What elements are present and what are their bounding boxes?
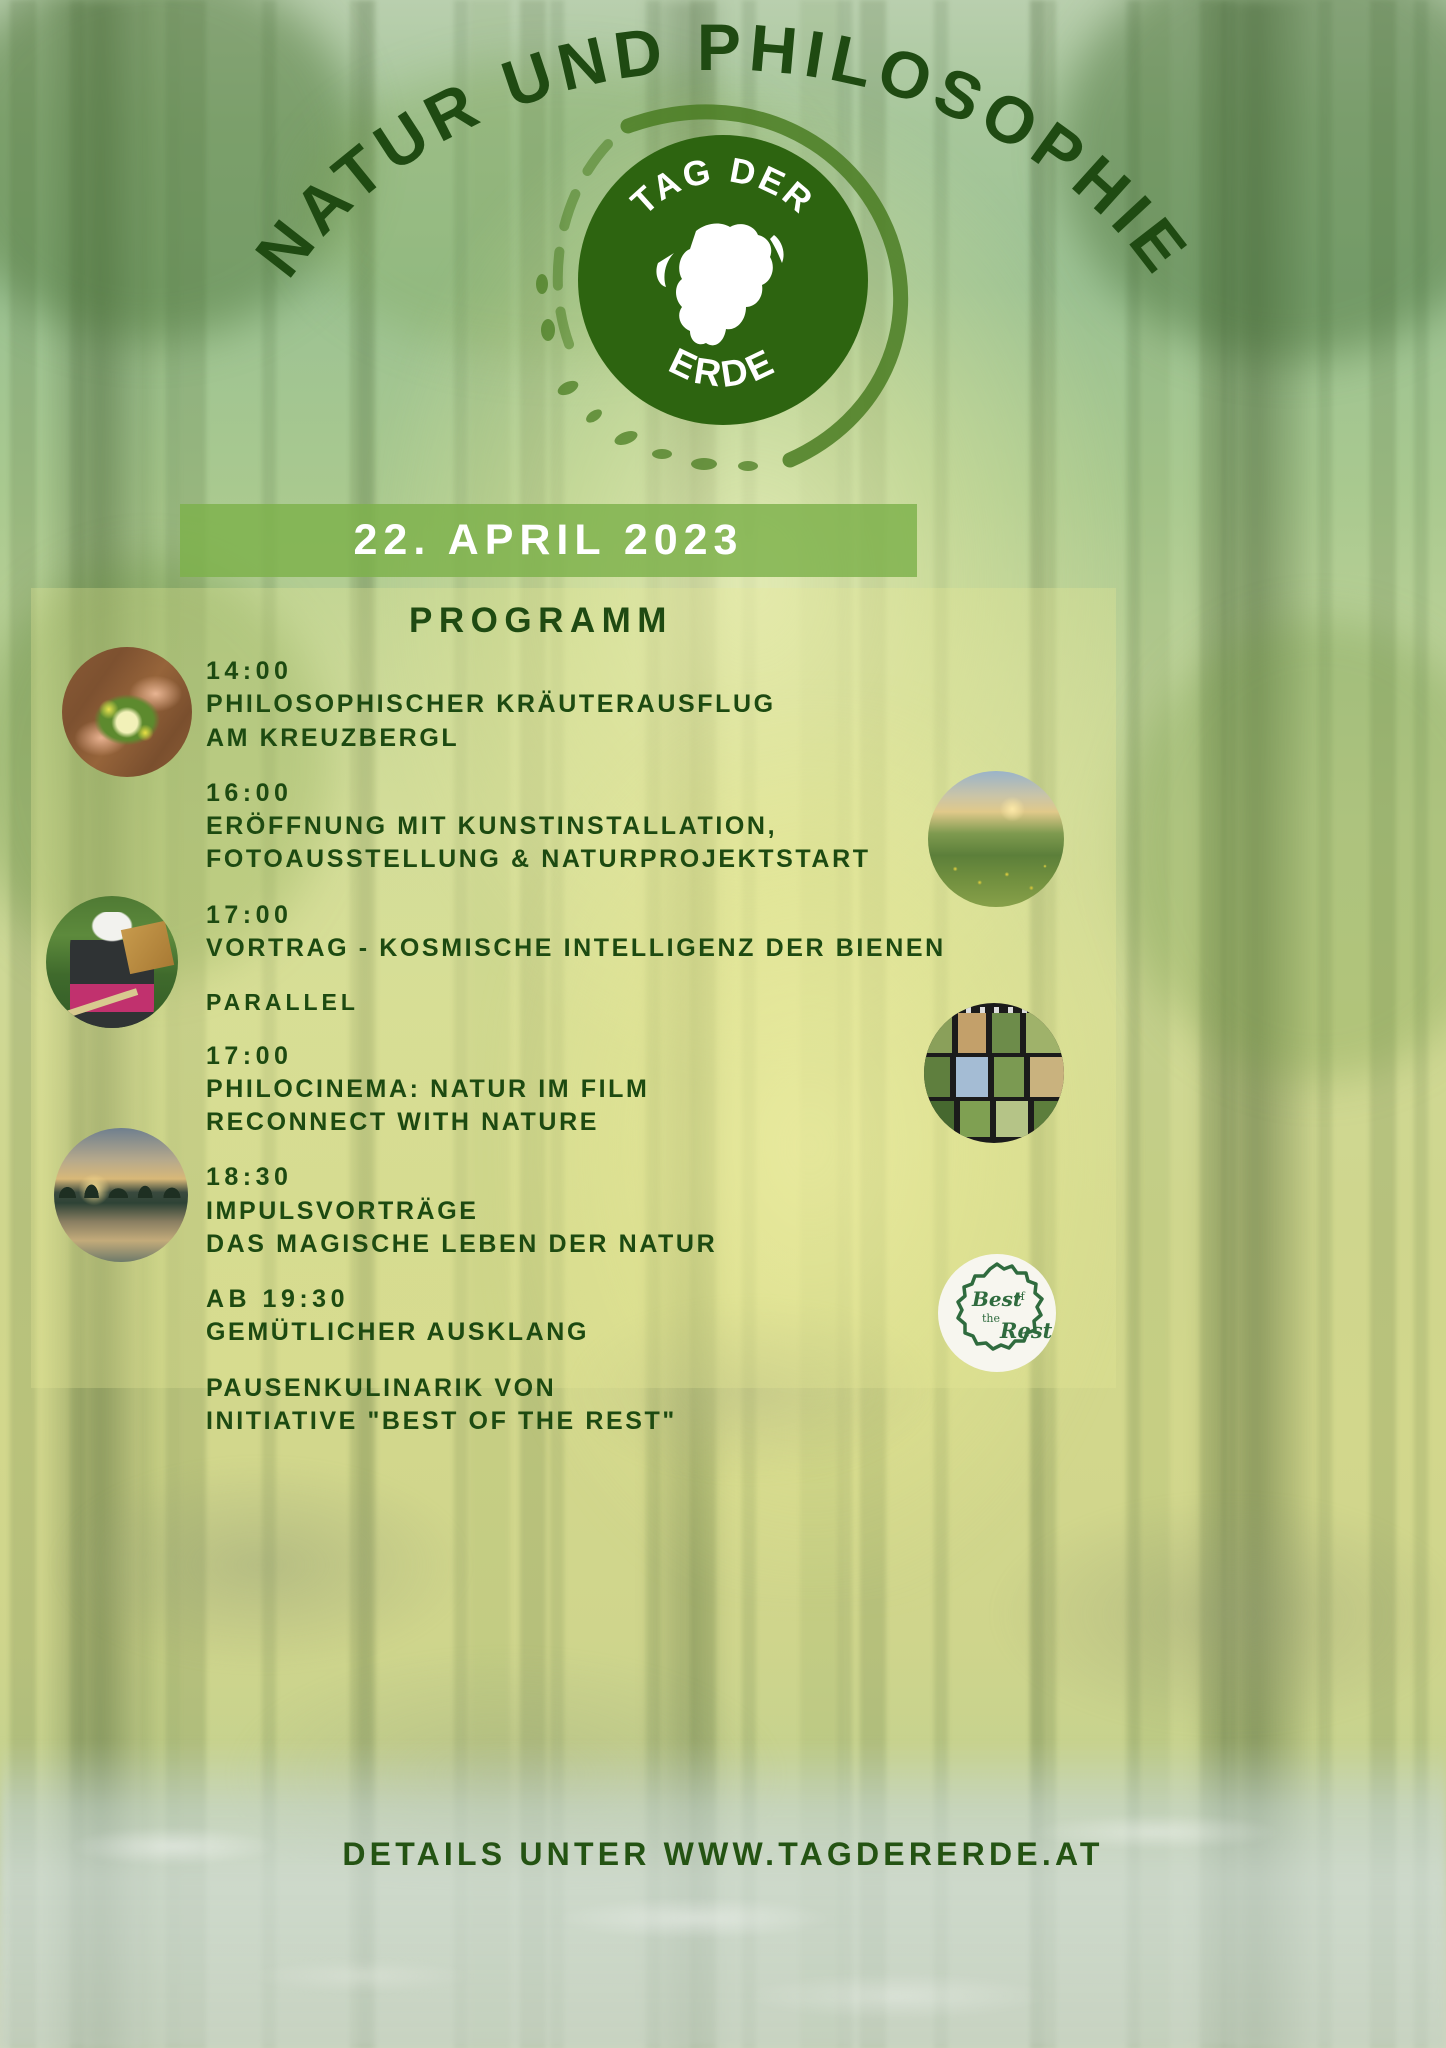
programme-heading: PROGRAMM	[409, 601, 673, 641]
footer: TREFFPUNKT PHILOSOPHIE NEUE AKROPOLIS Ha…	[0, 1895, 1446, 2048]
best-of-rest-svg: Best of the Rest	[938, 1254, 1056, 1372]
photo-lake-image	[54, 1128, 188, 1262]
event-date-text: 22. APRIL 2023	[354, 516, 744, 565]
details-line[interactable]: DETAILS UNTER WWW.TAGDERERDE.AT	[0, 1836, 1446, 1873]
poster-root: NATUR UND PHILOSOPHIE	[0, 0, 1446, 2048]
photo-herbs-image	[62, 647, 192, 777]
programme-item-time: 14:00	[206, 655, 1086, 688]
photo-herbs-in-hands	[62, 647, 192, 777]
photo-meadow-flowers	[928, 771, 1064, 907]
tag-der-erde-logo: TAG DER ERDE	[578, 135, 868, 425]
event-date-bar: 22. APRIL 2023	[180, 504, 917, 577]
photo-meadow-sunset	[928, 771, 1064, 907]
programme-item: PAUSENKULINARIK VONINITIATIVE "BEST OF T…	[206, 1372, 1086, 1439]
photo-lake-sunrise	[54, 1128, 188, 1262]
photo-beekeeper-frame	[121, 921, 174, 974]
photo-filmstrip-image	[924, 1003, 1064, 1143]
programme-item-time: 18:30	[206, 1161, 1086, 1194]
filmstrip-perforations	[924, 1003, 1064, 1143]
best-of-the-rest-badge: Best of the Rest	[938, 1254, 1056, 1372]
programme-item: 17:00VORTRAG - KOSMISCHE INTELLIGENZ DER…	[206, 899, 1086, 966]
photo-beekeeper-image	[46, 896, 178, 1028]
programme-item-line: PAUSENKULINARIK VON	[206, 1372, 1086, 1405]
programme-item: 14:00PHILOSOPHISCHER KRÄUTERAUSFLUGAM KR…	[206, 655, 1086, 755]
logo-svg: TAG DER ERDE	[578, 135, 868, 425]
badge-line-3: the	[982, 1312, 1000, 1325]
programme-item-line: PHILOSOPHISCHER KRÄUTERAUSFLUG	[206, 688, 1086, 721]
badge-line-4: Rest	[999, 1318, 1053, 1343]
photo-beekeeper	[46, 896, 178, 1028]
programme-item-line: INITIATIVE "BEST OF THE REST"	[206, 1405, 1086, 1438]
programme-item-line: VORTRAG - KOSMISCHE INTELLIGENZ DER BIEN…	[206, 932, 1086, 965]
programme-item-line: IMPULSVORTRÄGE	[206, 1195, 1086, 1228]
photo-lake-treeline	[54, 1176, 188, 1197]
photo-filmstrip-collage	[924, 1003, 1064, 1143]
programme-item-line: AM KREUZBERGL	[206, 722, 1086, 755]
badge-line-2: of	[1014, 1290, 1026, 1303]
programme-item: 18:30IMPULSVORTRÄGEDAS MAGISCHE LEBEN DE…	[206, 1161, 1086, 1261]
